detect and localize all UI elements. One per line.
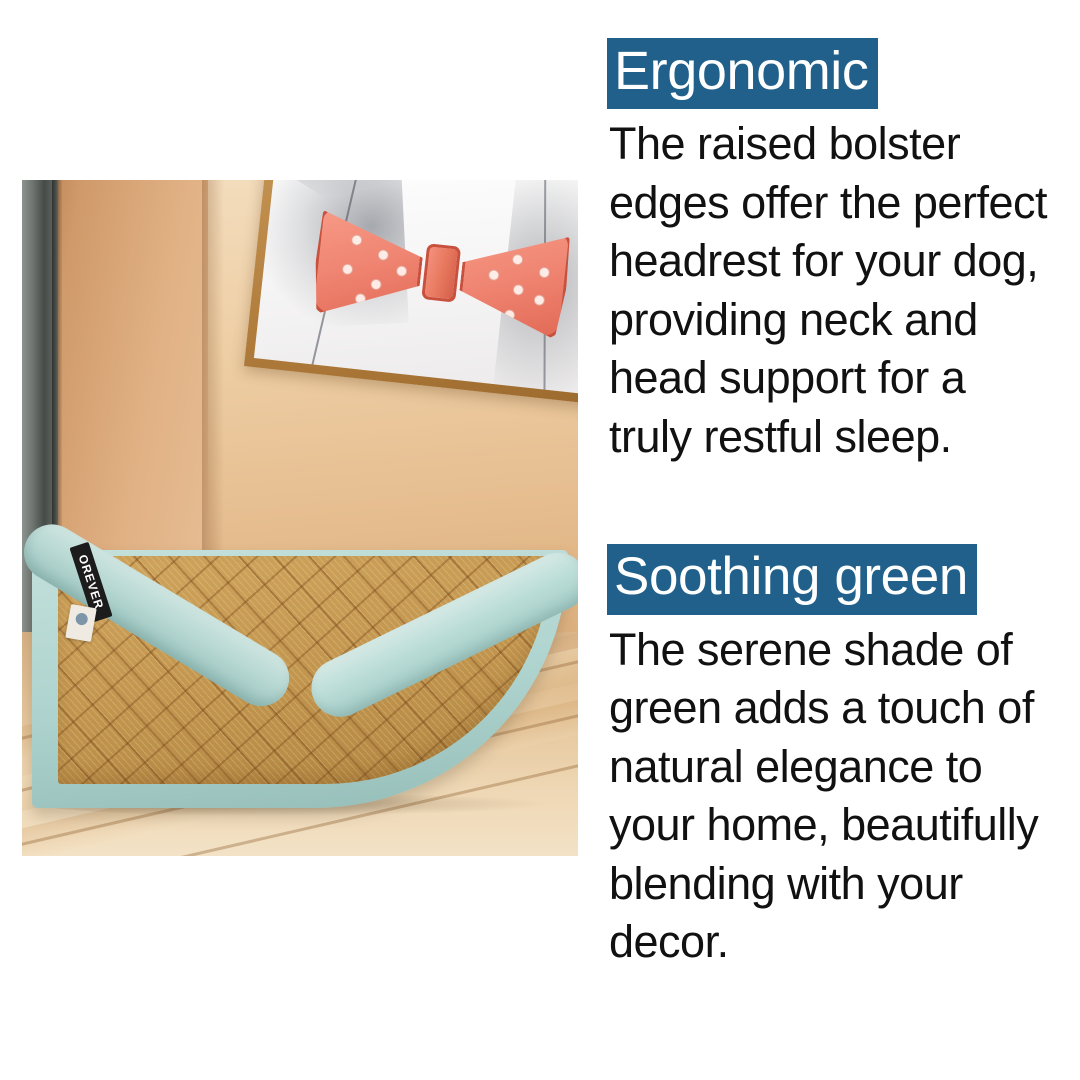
bowtie-dot <box>533 294 545 306</box>
bowtie-wing-right <box>455 221 572 340</box>
bowtie-dot <box>354 293 366 305</box>
feature-block-soothing-green: Soothing green The serene shade of green… <box>607 544 1051 971</box>
feature-heading-soothing-green: Soothing green <box>607 544 977 614</box>
feature-block-ergonomic: Ergonomic The raised bolster edges offer… <box>607 38 1051 466</box>
dog-bed: OREVER <box>22 510 578 800</box>
bowtie-dot <box>351 234 363 246</box>
bowtie-dot <box>396 265 408 277</box>
feature-text-column: Ergonomic The raised bolster edges offer… <box>607 38 1051 972</box>
product-photo: OREVER <box>22 180 578 856</box>
bowtie-wing-left <box>310 206 427 325</box>
bowtie-dot <box>503 309 515 321</box>
picture-canvas <box>254 180 578 396</box>
feature-body-soothing-green: The serene shade of green adds a touch o… <box>609 621 1051 972</box>
bowtie-knot <box>421 243 461 302</box>
product-feature-card: OREVER Ergonomic The raised bolster edge… <box>0 0 1080 1080</box>
feature-body-ergonomic: The raised bolster edges offer the perfe… <box>609 115 1051 466</box>
bowtie-dot <box>377 249 389 261</box>
bowtie-dot <box>341 263 353 275</box>
bowtie-dot <box>488 269 500 281</box>
feature-heading-ergonomic: Ergonomic <box>607 38 878 109</box>
bowtie-dot <box>538 266 550 278</box>
bowtie-dot <box>512 284 524 296</box>
bowtie-dot <box>370 278 382 290</box>
bowtie-dot <box>512 254 524 266</box>
